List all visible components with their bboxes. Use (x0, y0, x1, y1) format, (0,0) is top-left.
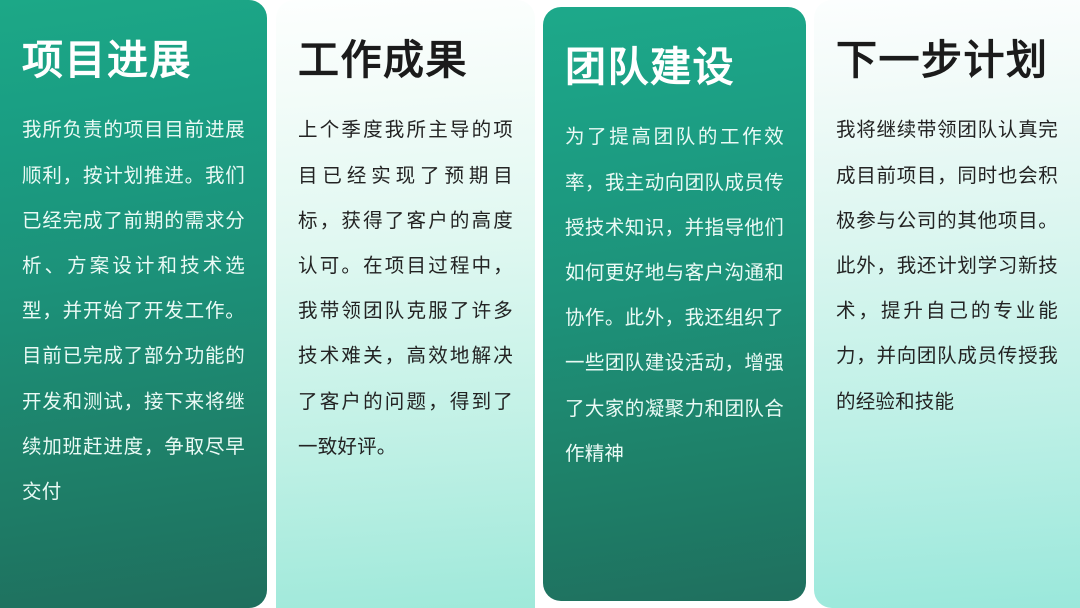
card-body-work-results: 上个季度我所主导的项目已经实现了预期目标，获得了客户的高度认可。在项目过程中，我… (298, 108, 513, 470)
card-body-team-building: 为了提高团队的工作效率，我主动向团队成员传授技术知识，并指导他们如何更好地与客户… (565, 115, 784, 477)
card-title-project-progress: 项目进展 (22, 38, 245, 82)
card-title-team-building: 团队建设 (565, 45, 784, 89)
card-title-work-results: 工作成果 (298, 38, 513, 82)
card-project-progress[interactable]: 项目进展 我所负责的项目目前进展顺利，按计划推进。我们已经完成了前期的需求分析、… (0, 0, 267, 608)
card-next-steps[interactable]: 下一步计划 我将继续带领团队认真完成目前项目，同时也会积极参与公司的其他项目。此… (814, 0, 1080, 608)
card-title-next-steps: 下一步计划 (836, 38, 1058, 82)
card-board: 项目进展 我所负责的项目目前进展顺利，按计划推进。我们已经完成了前期的需求分析、… (0, 0, 1080, 608)
card-body-next-steps: 我将继续带领团队认真完成目前项目，同时也会积极参与公司的其他项目。此外，我还计划… (836, 108, 1058, 425)
card-work-results[interactable]: 工作成果 上个季度我所主导的项目已经实现了预期目标，获得了客户的高度认可。在项目… (276, 0, 535, 608)
card-body-project-progress: 我所负责的项目目前进展顺利，按计划推进。我们已经完成了前期的需求分析、方案设计和… (22, 108, 245, 515)
card-team-building[interactable]: 团队建设 为了提高团队的工作效率，我主动向团队成员传授技术知识，并指导他们如何更… (543, 7, 806, 601)
